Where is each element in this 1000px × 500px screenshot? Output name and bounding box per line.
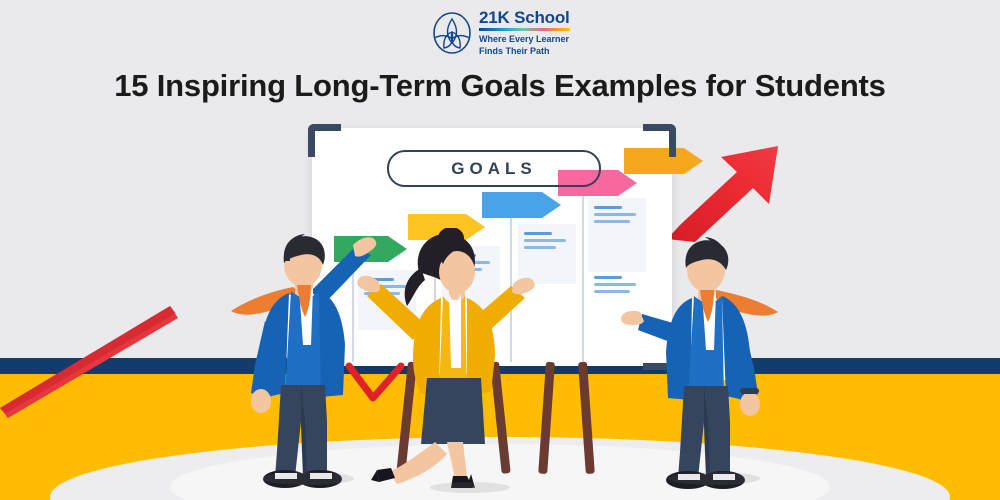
- logo-tagline-line-2: Finds Their Path: [479, 46, 570, 57]
- brand-logo[interactable]: 21K School Where Every Learner Finds The…: [432, 10, 582, 56]
- logo-name: 21K School: [479, 9, 570, 26]
- page-title: 15 Inspiring Long-Term Goals Examples fo…: [0, 68, 1000, 104]
- shadow-person-left: [262, 472, 354, 485]
- logo-text-block: 21K School Where Every Learner Finds The…: [479, 9, 570, 57]
- step-3-arrow-blue: [482, 192, 560, 218]
- shadow-person-right: [668, 472, 760, 485]
- column-divider-4: [582, 176, 584, 362]
- blog-banner: 21K School Where Every Learner Finds The…: [0, 0, 1000, 500]
- shadow-person-center: [430, 482, 510, 493]
- note-lines-4: [594, 206, 638, 227]
- logo-tagline-line-1: Where Every Learner: [479, 34, 570, 45]
- red-diagonal-stick-icon: [0, 300, 180, 420]
- logo-gradient-rule: [479, 28, 570, 31]
- person-center-celebrating: [355, 228, 540, 490]
- lotus-in-circle-icon: [432, 12, 472, 54]
- goals-title-pill: GOALS: [387, 150, 601, 187]
- logo-tagline: Where Every Learner Finds Their Path: [479, 34, 570, 57]
- board-corner-top-left: [308, 124, 341, 157]
- person-right-gesturing: [620, 228, 795, 490]
- board-corner-top-right: [643, 124, 676, 157]
